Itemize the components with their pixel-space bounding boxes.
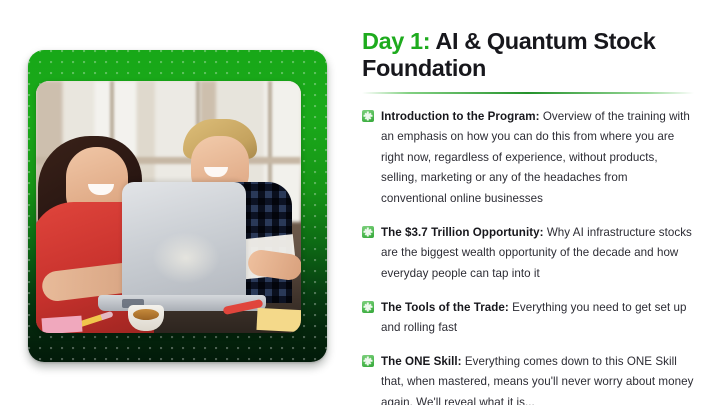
- laptop-screen-glow: [152, 232, 220, 284]
- bullet-body: Overview of the training with an emphasi…: [381, 110, 690, 206]
- list-item: The $3.7 Trillion Opportunity: Why AI in…: [362, 223, 694, 285]
- green-sparkle-bullet-icon: [362, 301, 374, 313]
- lesson-photo: [36, 81, 301, 333]
- day-label: Day 1:: [362, 28, 430, 54]
- bullet-lead: Introduction to the Program:: [381, 110, 540, 123]
- bullet-text: The Tools of the Trade: Everything you n…: [381, 298, 694, 339]
- green-sparkle-bullet-icon: [362, 226, 374, 238]
- list-item: The Tools of the Trade: Everything you n…: [362, 298, 694, 339]
- bullet-text: The $3.7 Trillion Opportunity: Why AI in…: [381, 223, 694, 285]
- curriculum-slide: Day 1: AI & Quantum Stock Foundation Int…: [0, 0, 720, 405]
- image-card: [28, 50, 327, 362]
- bullet-text: The ONE Skill: Everything comes down to …: [381, 352, 694, 405]
- page-title: Day 1: AI & Quantum Stock Foundation: [362, 28, 694, 83]
- green-sparkle-bullet-icon: [362, 355, 374, 367]
- text-column: Day 1: AI & Quantum Stock Foundation Int…: [350, 0, 720, 405]
- media-column: [0, 0, 350, 405]
- bullet-text: Introduction to the Program: Overview of…: [381, 107, 694, 210]
- photo-frame: [36, 81, 301, 333]
- list-item: Introduction to the Program: Overview of…: [362, 107, 694, 210]
- pink-sticky-note: [41, 316, 82, 333]
- bullet-lead: The ONE Skill:: [381, 355, 462, 368]
- bullet-lead: The $3.7 Trillion Opportunity:: [381, 226, 544, 239]
- yellow-sticky-note: [256, 308, 301, 332]
- heading-divider: [362, 92, 694, 94]
- list-item: The ONE Skill: Everything comes down to …: [362, 352, 694, 405]
- bullet-lead: The Tools of the Trade:: [381, 301, 509, 314]
- curriculum-bullet-list: Introduction to the Program: Overview of…: [362, 107, 694, 405]
- green-sparkle-bullet-icon: [362, 110, 374, 122]
